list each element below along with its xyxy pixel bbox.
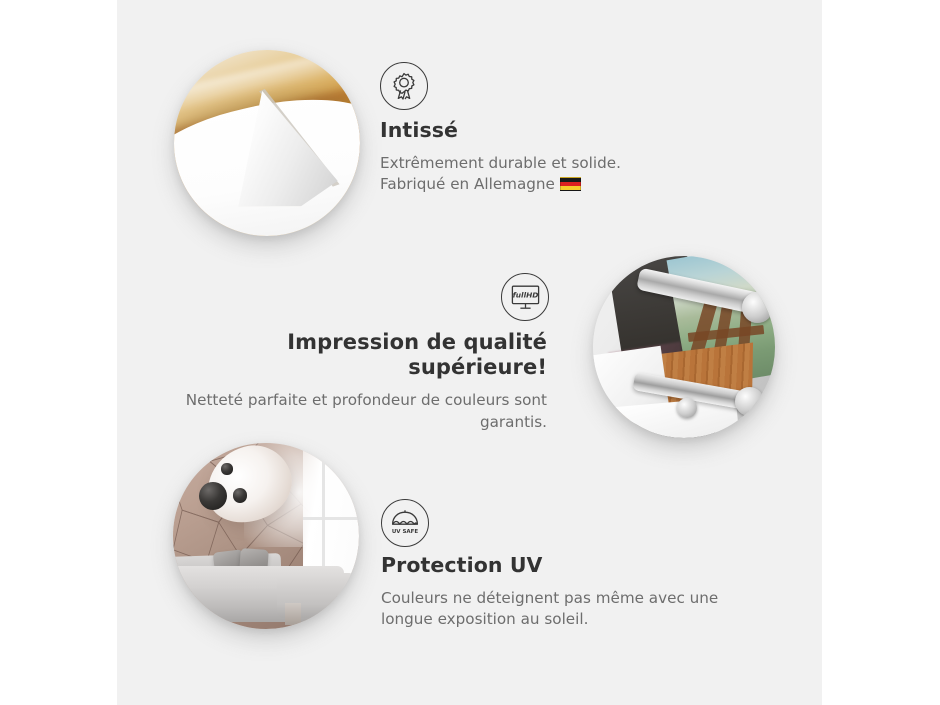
feature-body-uv: Couleurs ne déteignent pas même avec une… [381,588,721,631]
award-rosette-icon [380,62,428,110]
feature-body-line-1: Extrêmement durable et solide. [380,154,621,172]
feature-text-impression: Impression de qualité supérieure! Nettet… [180,330,547,434]
letterbox-right [822,0,940,705]
letterbox-left [0,0,117,705]
feature-text-intisse: Intissé Extrêmement durable et solide. F… [380,118,710,196]
feature-body-line-1: Netteté parfaite et profondeur de couleu… [186,391,547,409]
living-room-mural-photo [173,443,359,629]
feature-heading-impression: Impression de qualité supérieure! [180,330,547,380]
feature-text-uv: Protection UV Couleurs ne déteignent pas… [381,553,721,631]
feature-body-line-1: Couleurs ne déteignent pas même avec une [381,589,718,607]
feature-body-line-2: Fabriqué en Allemagne [380,175,555,193]
svg-text:fullHD: fullHD [512,290,538,299]
uv-safe-umbrella-icon: UV SAFE [381,499,429,547]
wallpaper-peel-photo [174,50,360,236]
feature-heading-intisse: Intissé [380,118,710,143]
svg-text:UV SAFE: UV SAFE [392,529,419,535]
feature-body-line-2: longue exposition au soleil. [381,610,588,628]
feature-body-intisse: Extrêmement durable et solide. Fabriqué … [380,153,710,196]
infographic-stage: Intissé Extrêmement durable et solide. F… [0,0,940,705]
printing-press-photo [593,256,775,438]
feature-body-impression: Netteté parfaite et profondeur de couleu… [180,390,547,433]
feature-heading-uv: Protection UV [381,553,721,578]
fullhd-monitor-icon: fullHD [501,273,549,321]
feature-body-line-2: garantis. [480,413,547,431]
german-flag-icon [560,177,581,191]
